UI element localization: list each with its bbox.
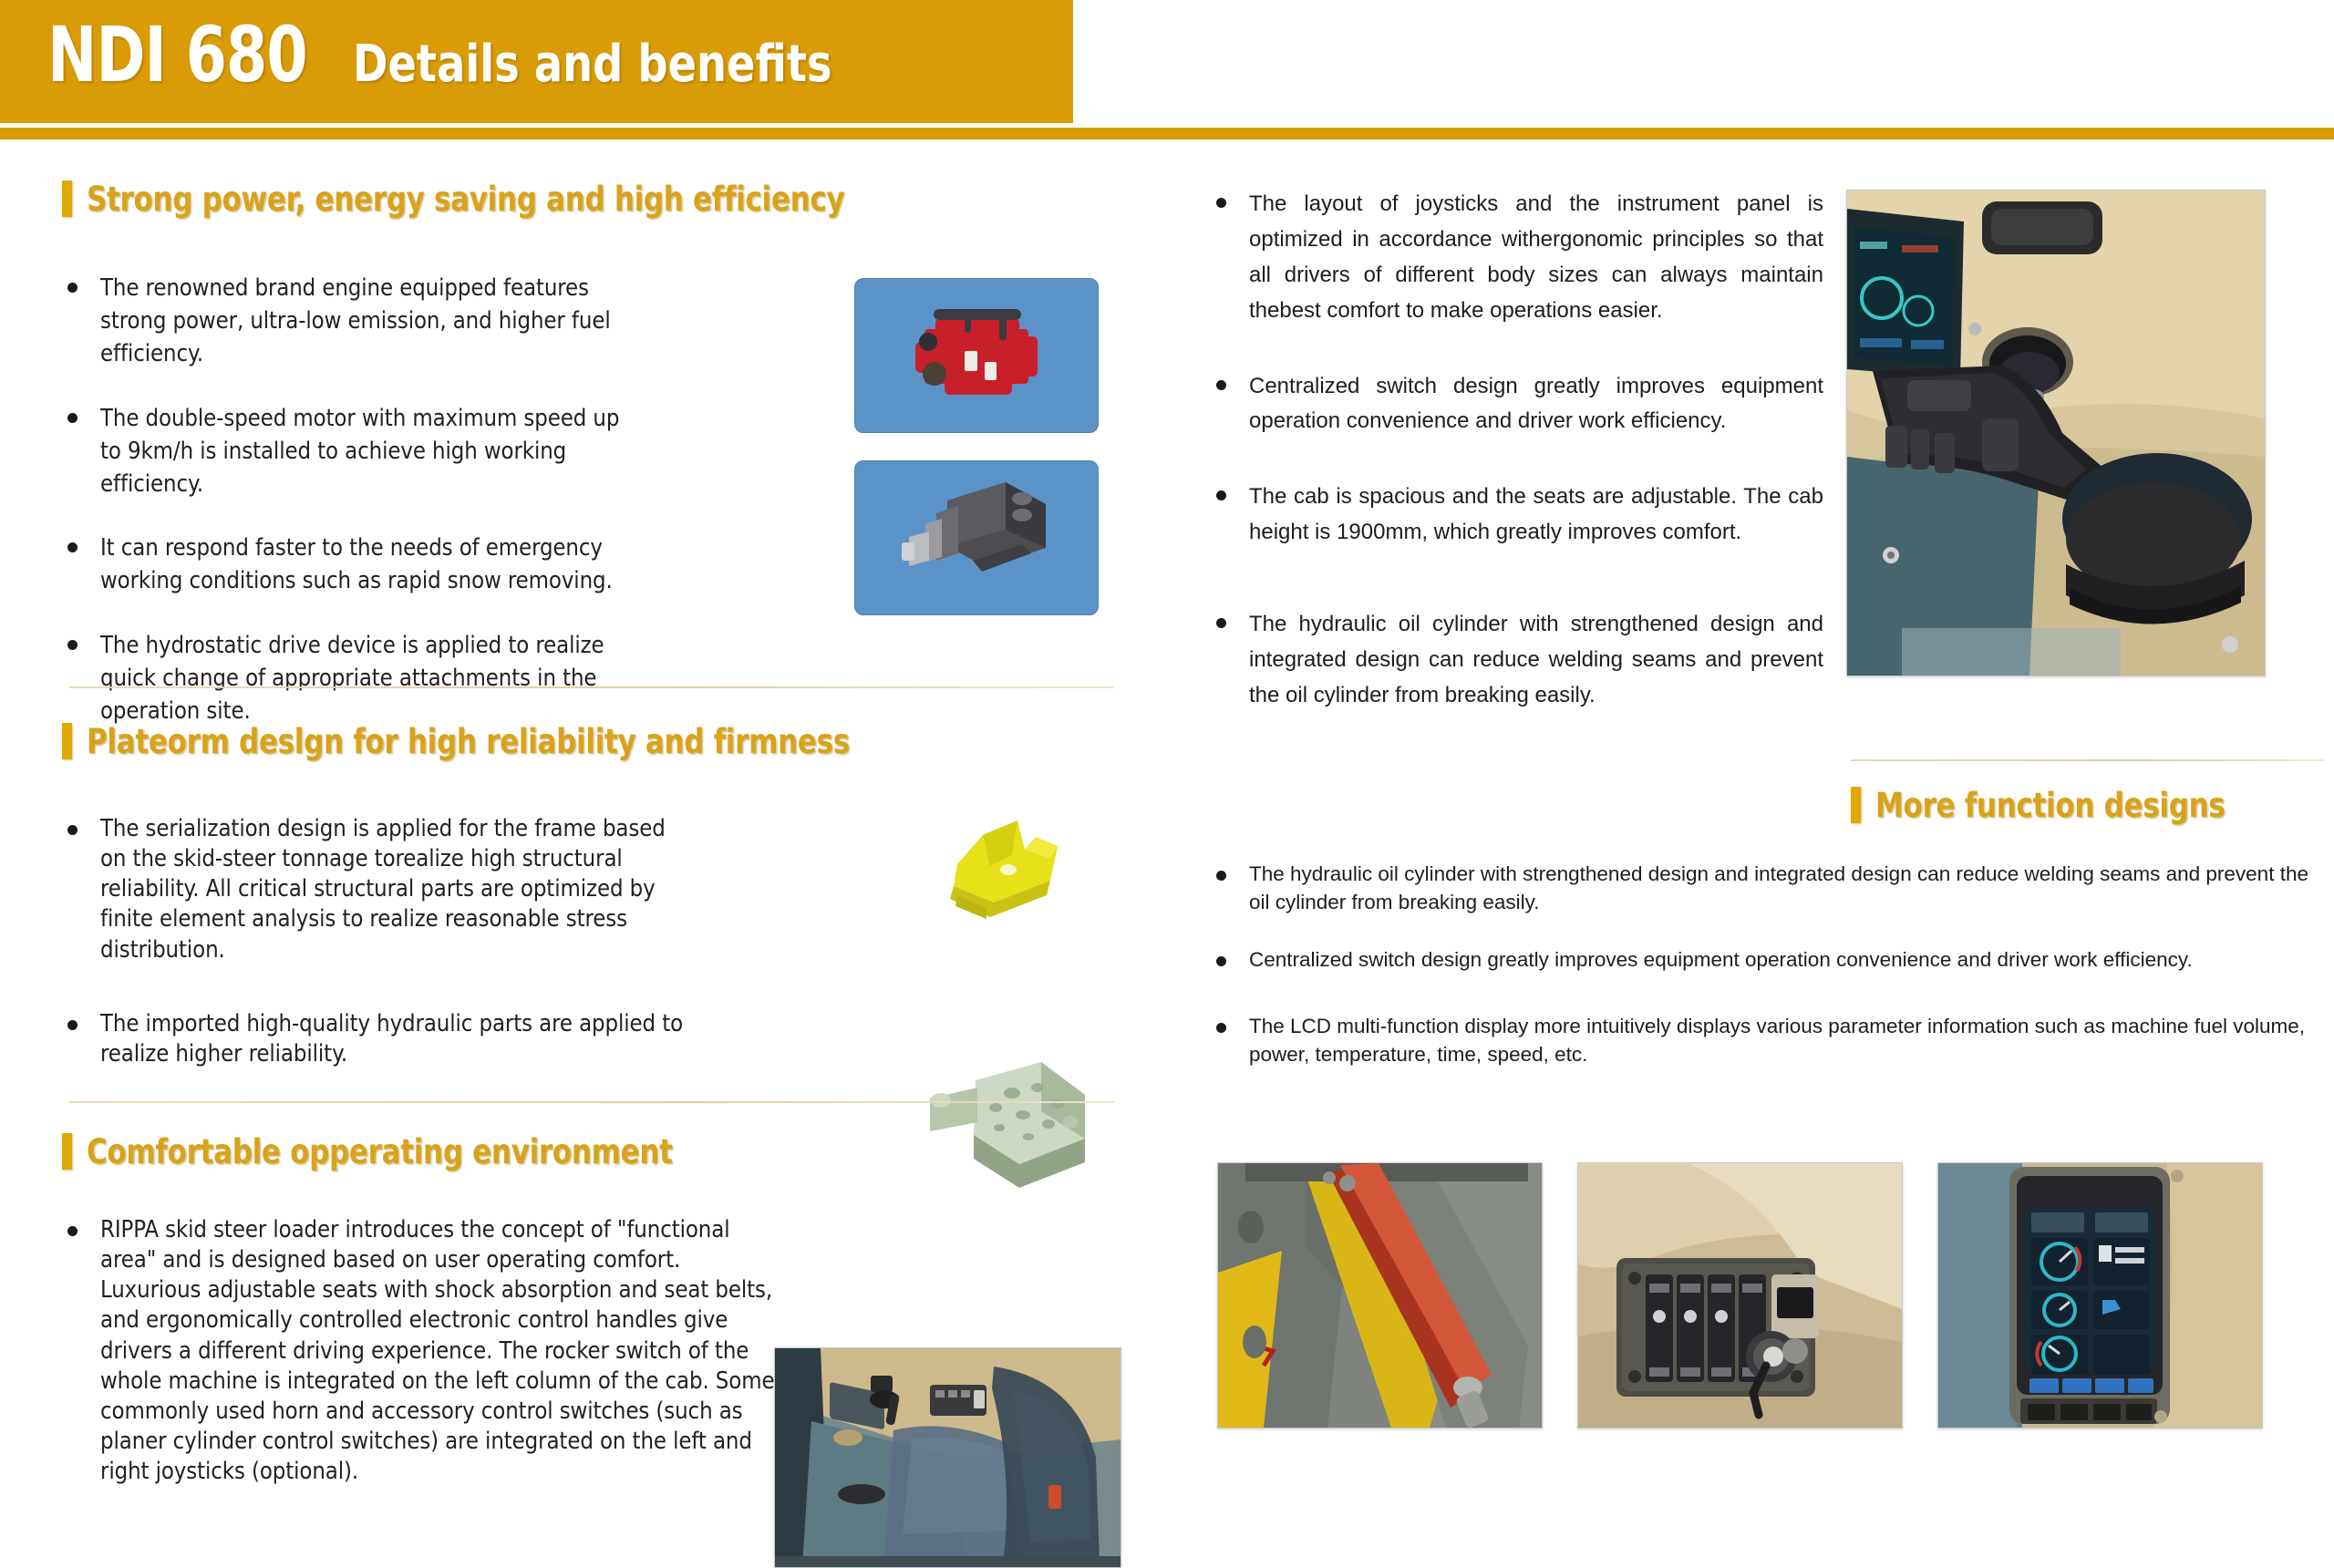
list-item: It can respond faster to the needs of em… [55,531,638,597]
list-item: The hydraulic oil cylinder with strength… [1203,607,1823,714]
bullet-list-platform-design: The serialization design is applied for … [55,814,693,1100]
list-item: The serialization design is applied for … [55,814,693,965]
heading-tick-icon [62,1133,72,1170]
section-heading-more-functions: More function designs [1851,787,2251,823]
bullet-text: The serialization design is applied for … [100,815,666,964]
joystick-console-illustration [1847,191,2265,676]
list-item: RIPPA skid steer loader introduces the c… [55,1215,775,1487]
left-column: Strong power, energy saving and high eff… [0,139,1176,1501]
bullet-list-more-functions: The hydraulic oil cylinder with strength… [1203,860,2311,1099]
list-item: The layout of joysticks and the instrume… [1203,187,1823,329]
list-item: The imported high-quality hydraulic part… [55,1009,693,1069]
bullet-text: The imported high-quality hydraulic part… [100,1010,683,1068]
hydraulic-motor-photo [854,460,1099,615]
engine-photo [854,278,1099,433]
section-title: Comfortable opperating environment [87,1135,673,1169]
lcd-display-illustration [1938,1163,2262,1428]
header-title-group: NDI 680 Details and benefits [47,16,873,93]
bullet-text: Centralized switch design greatly improv… [1249,948,2193,971]
joystick-console-photo [1846,190,2266,676]
list-item: The hydrostatic drive device is applied … [55,629,638,728]
bullet-text: The double-speed motor with maximum spee… [100,405,619,498]
bullet-text: It can respond faster to the needs of em… [100,534,613,594]
hydraulic-motor-illustration [885,469,1068,606]
product-model: NDI 680 [47,16,307,93]
header-accent-rule [0,128,2334,139]
bullet-text: Centralized switch design greatly improv… [1249,374,1823,434]
list-item: The double-speed motor with maximum spee… [55,402,638,501]
engine-illustration [908,305,1045,406]
list-item: Centralized switch design greatly improv… [1203,369,1823,440]
bullet-list-comfortable-environment: RIPPA skid steer loader introduces the c… [55,1215,775,1518]
cab-seat-photo [774,1347,1121,1568]
cab-seat-illustration [775,1348,1121,1567]
bullet-text: The layout of joysticks and the instrume… [1249,191,1823,323]
bullet-text: The hydraulic oil cylinder with strength… [1249,862,2308,913]
list-item: The renowned brand engine equipped featu… [55,272,638,371]
section-title: Plateorm deslgn for high reliability and… [87,725,850,758]
section-title: Strong power, energy saving and high eff… [87,182,844,216]
section-divider [69,1101,1114,1103]
hydraulic-cylinder-illustration [1218,1163,1542,1428]
bullet-text: The hydrostatic drive device is applied … [100,632,604,725]
bullet-text: The hydraulic oil cylinder with strength… [1249,612,1823,707]
bullet-text: The renowned brand engine equipped featu… [100,274,611,367]
section-heading-platform-design: Plateorm deslgn for high reliability and… [62,723,907,759]
heading-tick-icon [62,723,72,759]
switch-panel-photo [1577,1162,1903,1429]
page-subtitle: Details and benefits [353,39,832,90]
right-column: The layout of joysticks and the instrume… [1176,139,2334,1501]
section-heading-strong-power: Strong power, energy saving and high eff… [62,181,902,217]
bullet-text: The cab is spacious and the seats are ad… [1249,484,1823,544]
section-title: More function designs [1875,789,2225,822]
hydraulic-valve-cad-render [921,1051,1112,1215]
hydraulic-cylinder-photo [1217,1162,1543,1429]
section-heading-comfortable-environment: Comfortable opperating environment [62,1133,717,1170]
frame-cad-render [930,819,1112,965]
section-divider [1851,759,2325,761]
list-item: Centralized switch design greatly improv… [1203,945,2311,974]
bullet-text: The LCD multi-function display more intu… [1249,1015,2305,1066]
section-divider [69,686,1114,688]
heading-tick-icon [62,181,72,217]
lcd-display-photo [1937,1162,2263,1429]
bullet-list-cab-features: The layout of joysticks and the instrume… [1203,187,1823,745]
list-item: The LCD multi-function display more intu… [1203,1012,2311,1068]
list-item: The cab is spacious and the seats are ad… [1203,480,1823,551]
list-item: The hydraulic oil cylinder with strength… [1203,860,2311,916]
bullet-text: RIPPA skid steer loader introduces the c… [100,1216,774,1485]
heading-tick-icon [1851,787,1861,823]
switch-panel-illustration [1578,1163,1902,1428]
